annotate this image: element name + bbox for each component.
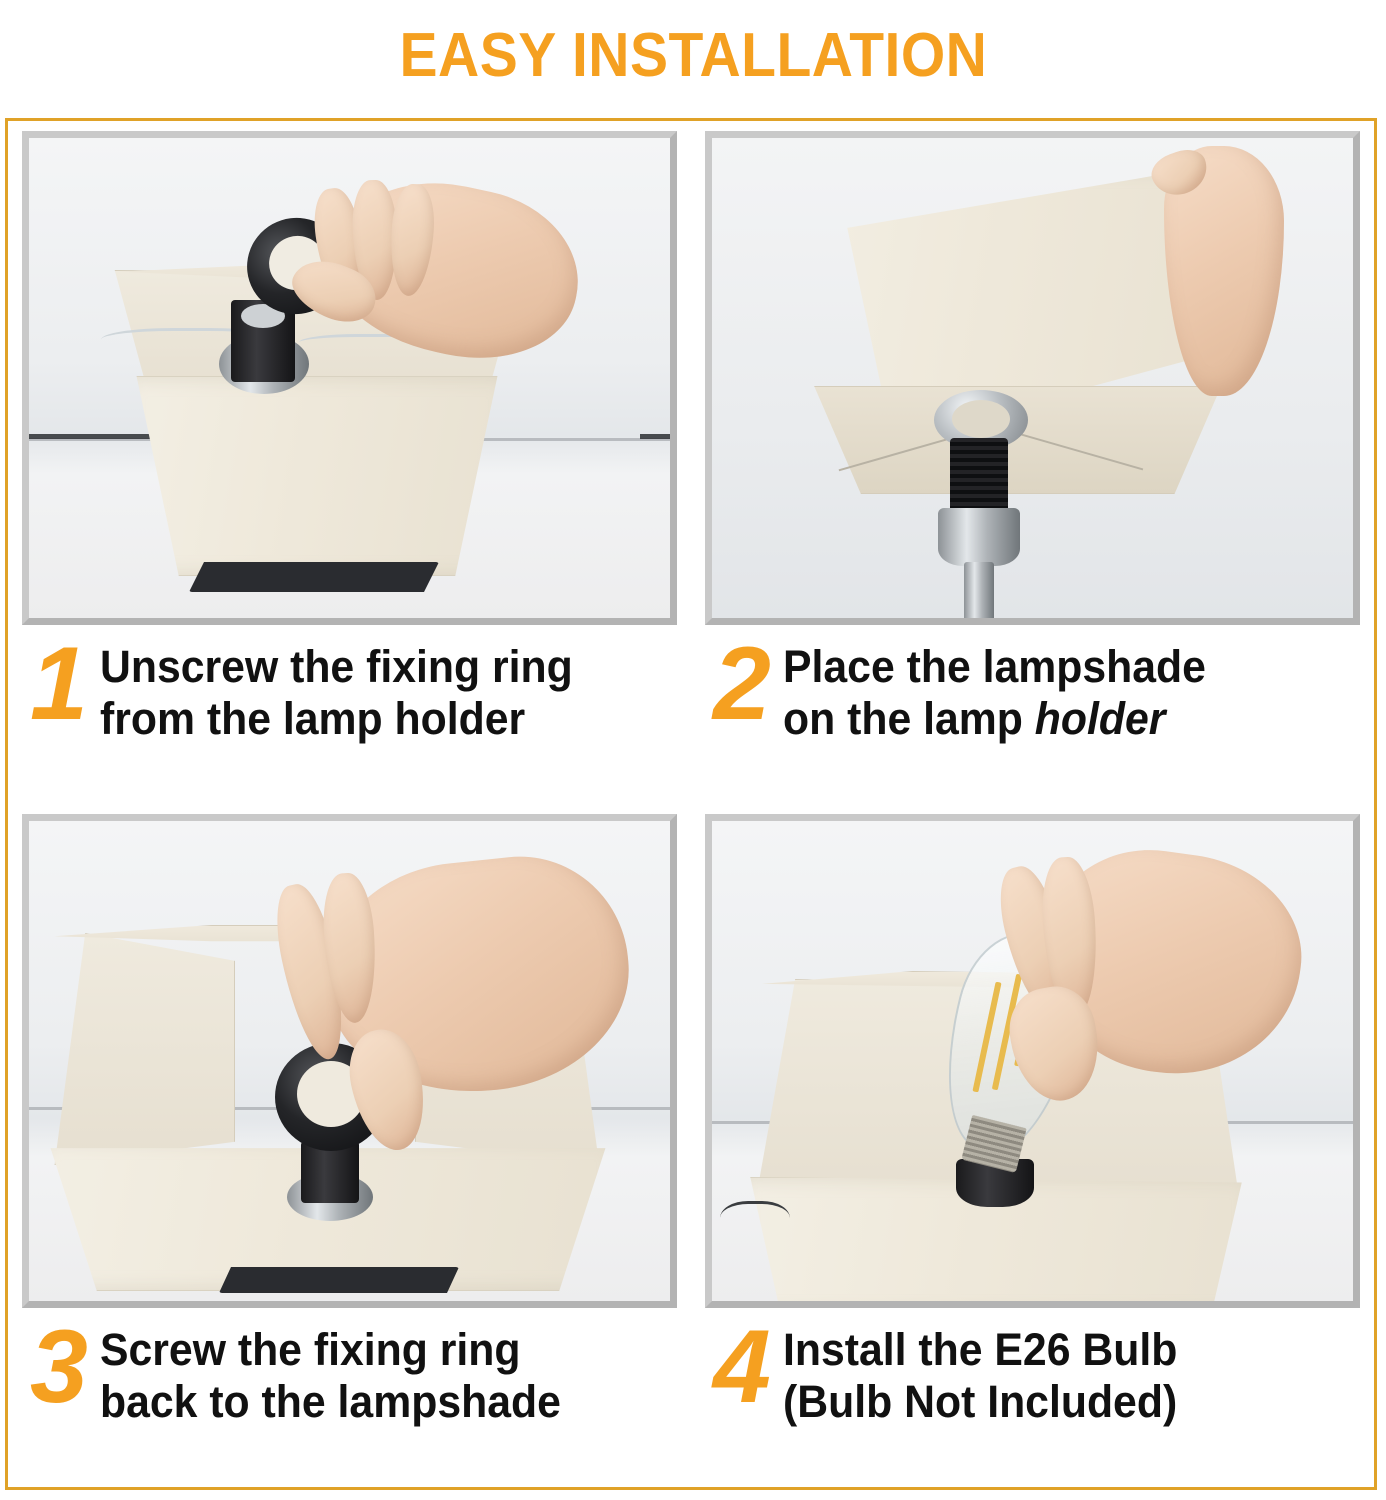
lamp-base	[189, 562, 439, 592]
step-line-1a: Unscrew the fixing ring	[100, 641, 573, 693]
step-caption-4: 4 Install the E26 Bulb (Bulb Not Include…	[705, 1308, 1360, 1481]
step-cell-3: 3 Screw the fixing ring back to the lamp…	[8, 804, 691, 1487]
photo-scene-2	[712, 138, 1353, 618]
shade-fitting-hole	[952, 400, 1010, 438]
step-number-2: 2	[713, 637, 771, 733]
step-photo-3	[22, 814, 677, 1308]
holder-collar	[938, 508, 1020, 566]
step-cell-2: 2 Place the lampshade on the lamp holder	[691, 121, 1374, 804]
step-photo-4	[705, 814, 1360, 1308]
step-text-2: Place the lampshade on the lamp holder	[783, 637, 1206, 745]
steps-grid: 1 Unscrew the fixing ring from the lamp …	[8, 121, 1374, 1487]
step-cell-1: 1 Unscrew the fixing ring from the lamp …	[8, 121, 691, 804]
step-text-4: Install the E26 Bulb (Bulb Not Included)	[783, 1320, 1177, 1428]
step-number-3: 3	[30, 1320, 88, 1416]
lamp-stem	[964, 562, 994, 625]
page-header: EASY INSTALLATION	[0, 0, 1386, 112]
step-photo-2	[705, 131, 1360, 625]
lampshade-body	[125, 376, 509, 576]
table-shadow-right	[640, 434, 670, 439]
step-number-4: 4	[713, 1320, 771, 1416]
lamp-holder	[950, 438, 1008, 514]
photo-scene-4	[712, 821, 1353, 1301]
step-line-1b: from the lamp holder	[100, 693, 573, 745]
instruction-frame: 1 Unscrew the fixing ring from the lamp …	[5, 118, 1377, 1490]
step-line-3b: back to the lampshade	[100, 1376, 561, 1428]
step-caption-2: 2 Place the lampshade on the lamp holder	[705, 625, 1360, 798]
lamp-base	[219, 1267, 459, 1293]
step-line-2b: on the lamp holder	[783, 693, 1206, 745]
step-text-3: Screw the fixing ring back to the lampsh…	[100, 1320, 561, 1428]
photo-scene-3	[29, 821, 670, 1301]
power-cord	[720, 1201, 790, 1244]
step-cell-4: 4 Install the E26 Bulb (Bulb Not Include…	[691, 804, 1374, 1487]
step-line-4b: (Bulb Not Included)	[783, 1376, 1177, 1428]
step-photo-1	[22, 131, 677, 625]
step-text-1: Unscrew the fixing ring from the lamp ho…	[100, 637, 573, 745]
step-caption-1: 1 Unscrew the fixing ring from the lamp …	[22, 625, 677, 798]
step-line-4a: Install the E26 Bulb	[783, 1324, 1177, 1376]
step-number-1: 1	[30, 637, 88, 733]
step-caption-3: 3 Screw the fixing ring back to the lamp…	[22, 1308, 677, 1481]
page-title: EASY INSTALLATION	[399, 25, 987, 87]
step-line-3a: Screw the fixing ring	[100, 1324, 561, 1376]
photo-scene-1	[29, 138, 670, 618]
step-line-2a: Place the lampshade	[783, 641, 1206, 693]
